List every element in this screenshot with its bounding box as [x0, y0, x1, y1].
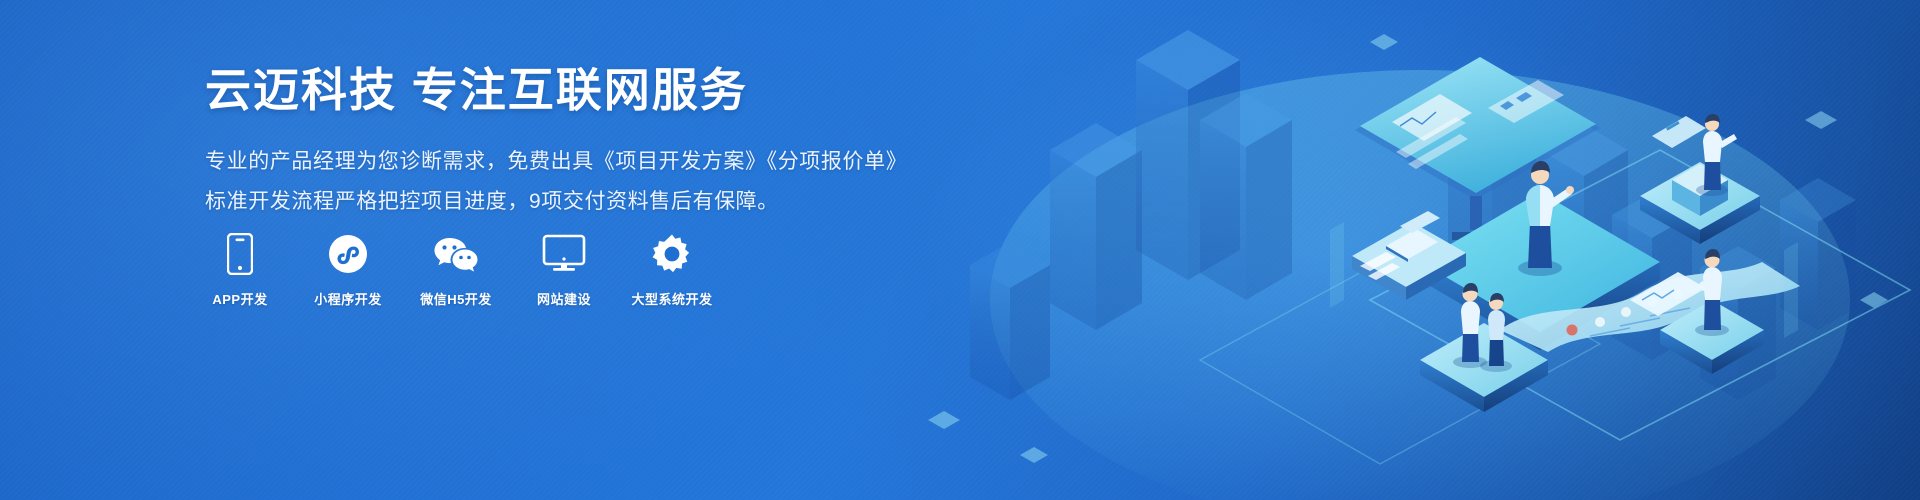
subtitle-line-1: 专业的产品经理为您诊断需求，免费出具《项目开发方案》《分项报价单》 — [205, 142, 925, 183]
tower-1 — [970, 242, 1050, 400]
tower-4 — [1200, 93, 1292, 300]
service-item-wechat[interactable]: 微信H5开发 — [419, 232, 493, 308]
gear-icon — [651, 232, 693, 276]
service-label: APP开发 — [212, 289, 267, 308]
page-title: 云迈科技 专注互联网服务 — [205, 62, 925, 120]
service-item-app[interactable]: APP开发 — [203, 232, 277, 308]
hero-text-block: 云迈科技 专注互联网服务 专业的产品经理为您诊断需求，免费出具《项目开发方案》《… — [205, 62, 925, 223]
service-label: 大型系统开发 — [632, 289, 713, 308]
service-label: 小程序开发 — [314, 289, 382, 308]
tower-2 — [1050, 123, 1142, 330]
illustration-panel — [900, 0, 1920, 500]
service-label: 网站建设 — [537, 289, 591, 308]
mini-program-icon — [328, 232, 368, 276]
subtitle-line-2: 标准开发流程严格把控项目进度，9项交付资料售后有保障。 — [205, 182, 925, 223]
mobile-phone-icon — [227, 232, 253, 276]
service-item-website[interactable]: 网站建设 — [527, 232, 601, 308]
subtitle-group: 专业的产品经理为您诊断需求，免费出具《项目开发方案》《分项报价单》 标准开发流程… — [205, 142, 925, 224]
service-list: APP开发 小程序开发 微信 — [203, 232, 709, 308]
service-item-system[interactable]: 大型系统开发 — [635, 232, 709, 308]
service-label: 微信H5开发 — [420, 289, 492, 308]
wechat-icon — [433, 232, 479, 276]
monitor-icon — [542, 232, 586, 276]
service-item-miniprogram[interactable]: 小程序开发 — [311, 232, 385, 308]
hero-banner: 云迈科技 专注互联网服务 专业的产品经理为您诊断需求，免费出具《项目开发方案》《… — [0, 0, 1920, 500]
